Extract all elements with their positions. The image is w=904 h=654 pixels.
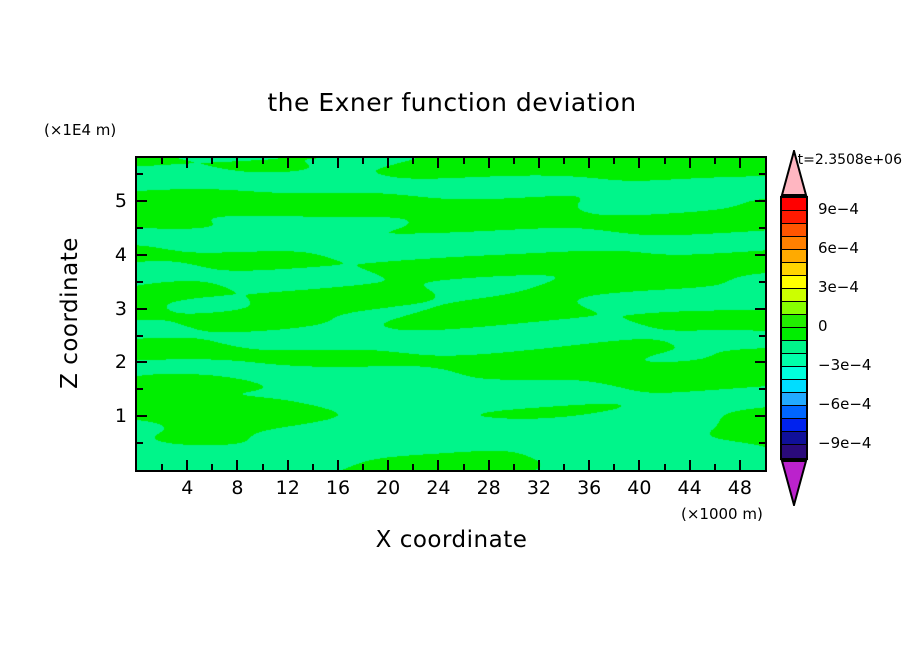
colorbar-band	[782, 419, 806, 432]
x-tick-label: 32	[519, 477, 559, 499]
axis-tick	[211, 158, 213, 164]
axis-tick	[137, 308, 147, 310]
axis-tick	[137, 173, 143, 175]
colorbar-tick-label: −6e−4	[818, 395, 871, 413]
colorbar-tick-label: 9e−4	[818, 200, 859, 218]
x-tick-label: 28	[469, 477, 509, 499]
axis-tick	[137, 415, 147, 417]
x-axis-unit-label: (×1000 m)	[681, 505, 763, 523]
axis-tick	[437, 460, 439, 470]
axis-tick	[664, 464, 666, 470]
axis-tick	[638, 460, 640, 470]
colorbar-band	[782, 445, 806, 458]
y-axis-title: Z coordinate	[57, 213, 83, 413]
axis-tick	[563, 464, 565, 470]
axis-tick	[588, 460, 590, 470]
axis-tick	[714, 158, 716, 164]
axis-tick	[137, 335, 143, 337]
colorbar-tick-label: −3e−4	[818, 356, 871, 374]
colorbar-band	[782, 289, 806, 302]
axis-tick	[739, 158, 741, 168]
page-title: the Exner function deviation	[0, 88, 904, 117]
axis-tick	[337, 460, 339, 470]
axis-tick	[137, 254, 147, 256]
y-tick-label: 5	[97, 190, 127, 212]
x-tick-label: 24	[418, 477, 458, 499]
axis-tick	[538, 158, 540, 168]
contour-field	[137, 158, 765, 470]
y-tick-label: 2	[97, 351, 127, 373]
axis-tick	[755, 254, 765, 256]
axis-tick	[362, 158, 364, 164]
axis-tick	[755, 200, 765, 202]
axis-tick	[755, 308, 765, 310]
axis-tick	[137, 361, 147, 363]
x-tick-label: 48	[720, 477, 760, 499]
x-axis-title: X coordinate	[135, 527, 768, 553]
colorbar-tick-label: 0	[818, 317, 828, 335]
axis-tick	[287, 158, 289, 168]
axis-tick	[387, 460, 389, 470]
axis-tick	[137, 200, 147, 202]
time-stamp-label: t=2.3508e+06	[798, 152, 902, 168]
axis-tick	[513, 158, 515, 164]
axis-tick	[613, 464, 615, 470]
x-tick-label: 36	[569, 477, 609, 499]
axis-tick	[412, 464, 414, 470]
axis-tick	[563, 158, 565, 164]
x-tick-label: 8	[217, 477, 257, 499]
x-tick-label: 44	[670, 477, 710, 499]
colorbar-band	[782, 224, 806, 237]
axis-tick	[759, 442, 765, 444]
x-tick-label: 40	[619, 477, 659, 499]
colorbar: 9e−46e−43e−40−3e−4−6e−4−9e−4	[780, 196, 808, 460]
axis-tick	[337, 158, 339, 168]
axis-tick	[759, 173, 765, 175]
axis-tick	[613, 158, 615, 164]
axis-tick	[488, 158, 490, 168]
axis-tick	[759, 227, 765, 229]
axis-tick	[262, 464, 264, 470]
y-tick-label: 1	[97, 405, 127, 427]
axis-tick	[236, 158, 238, 168]
colorbar-band	[782, 302, 806, 315]
axis-tick	[387, 158, 389, 168]
colorbar-tick-label: 3e−4	[818, 278, 859, 296]
axis-tick	[161, 158, 163, 164]
axis-tick	[312, 158, 314, 164]
colorbar-band	[782, 198, 806, 211]
axis-tick	[137, 442, 143, 444]
axis-tick	[236, 460, 238, 470]
axis-tick	[137, 227, 143, 229]
axis-tick	[412, 158, 414, 164]
axis-tick	[689, 158, 691, 168]
axis-tick	[714, 464, 716, 470]
axis-tick	[755, 415, 765, 417]
axis-tick	[538, 460, 540, 470]
colorbar-bands	[780, 196, 808, 460]
axis-tick	[186, 460, 188, 470]
x-tick-label: 4	[167, 477, 207, 499]
axis-tick	[161, 464, 163, 470]
axis-tick	[759, 281, 765, 283]
axis-tick	[262, 158, 264, 164]
y-axis-unit-label: (×1E4 m)	[44, 121, 116, 139]
colorbar-band	[782, 393, 806, 406]
axis-tick	[588, 158, 590, 168]
axis-tick	[638, 158, 640, 168]
colorbar-band	[782, 406, 806, 419]
axis-tick	[287, 460, 289, 470]
colorbar-band	[782, 211, 806, 224]
axis-tick	[463, 464, 465, 470]
colorbar-band	[782, 263, 806, 276]
axis-tick	[137, 388, 143, 390]
axis-tick	[759, 388, 765, 390]
colorbar-band	[782, 237, 806, 250]
colorbar-band	[782, 354, 806, 367]
contour-plot-area	[135, 156, 767, 472]
axis-tick	[488, 460, 490, 470]
colorbar-band	[782, 250, 806, 263]
colorbar-tick-label: −9e−4	[818, 434, 871, 452]
colorbar-band	[782, 328, 806, 341]
axis-tick	[312, 464, 314, 470]
axis-tick	[463, 158, 465, 164]
colorbar-band	[782, 367, 806, 380]
y-tick-label: 3	[97, 298, 127, 320]
y-tick-label: 4	[97, 244, 127, 266]
colorbar-band	[782, 315, 806, 328]
x-tick-label: 12	[268, 477, 308, 499]
axis-tick	[362, 464, 364, 470]
x-tick-label: 20	[368, 477, 408, 499]
colorbar-under-arrow-icon	[780, 460, 808, 506]
axis-tick	[211, 464, 213, 470]
colorbar-over-arrow-icon	[780, 150, 808, 196]
colorbar-band	[782, 276, 806, 289]
axis-tick	[689, 460, 691, 470]
colorbar-band	[782, 380, 806, 393]
colorbar-tick-label: 6e−4	[818, 239, 859, 257]
axis-tick	[759, 335, 765, 337]
colorbar-band	[782, 341, 806, 354]
axis-tick	[137, 281, 143, 283]
axis-tick	[437, 158, 439, 168]
x-tick-label: 16	[318, 477, 358, 499]
axis-tick	[755, 361, 765, 363]
colorbar-band	[782, 432, 806, 445]
axis-tick	[513, 464, 515, 470]
axis-tick	[664, 158, 666, 164]
axis-tick	[739, 460, 741, 470]
axis-tick	[186, 158, 188, 168]
